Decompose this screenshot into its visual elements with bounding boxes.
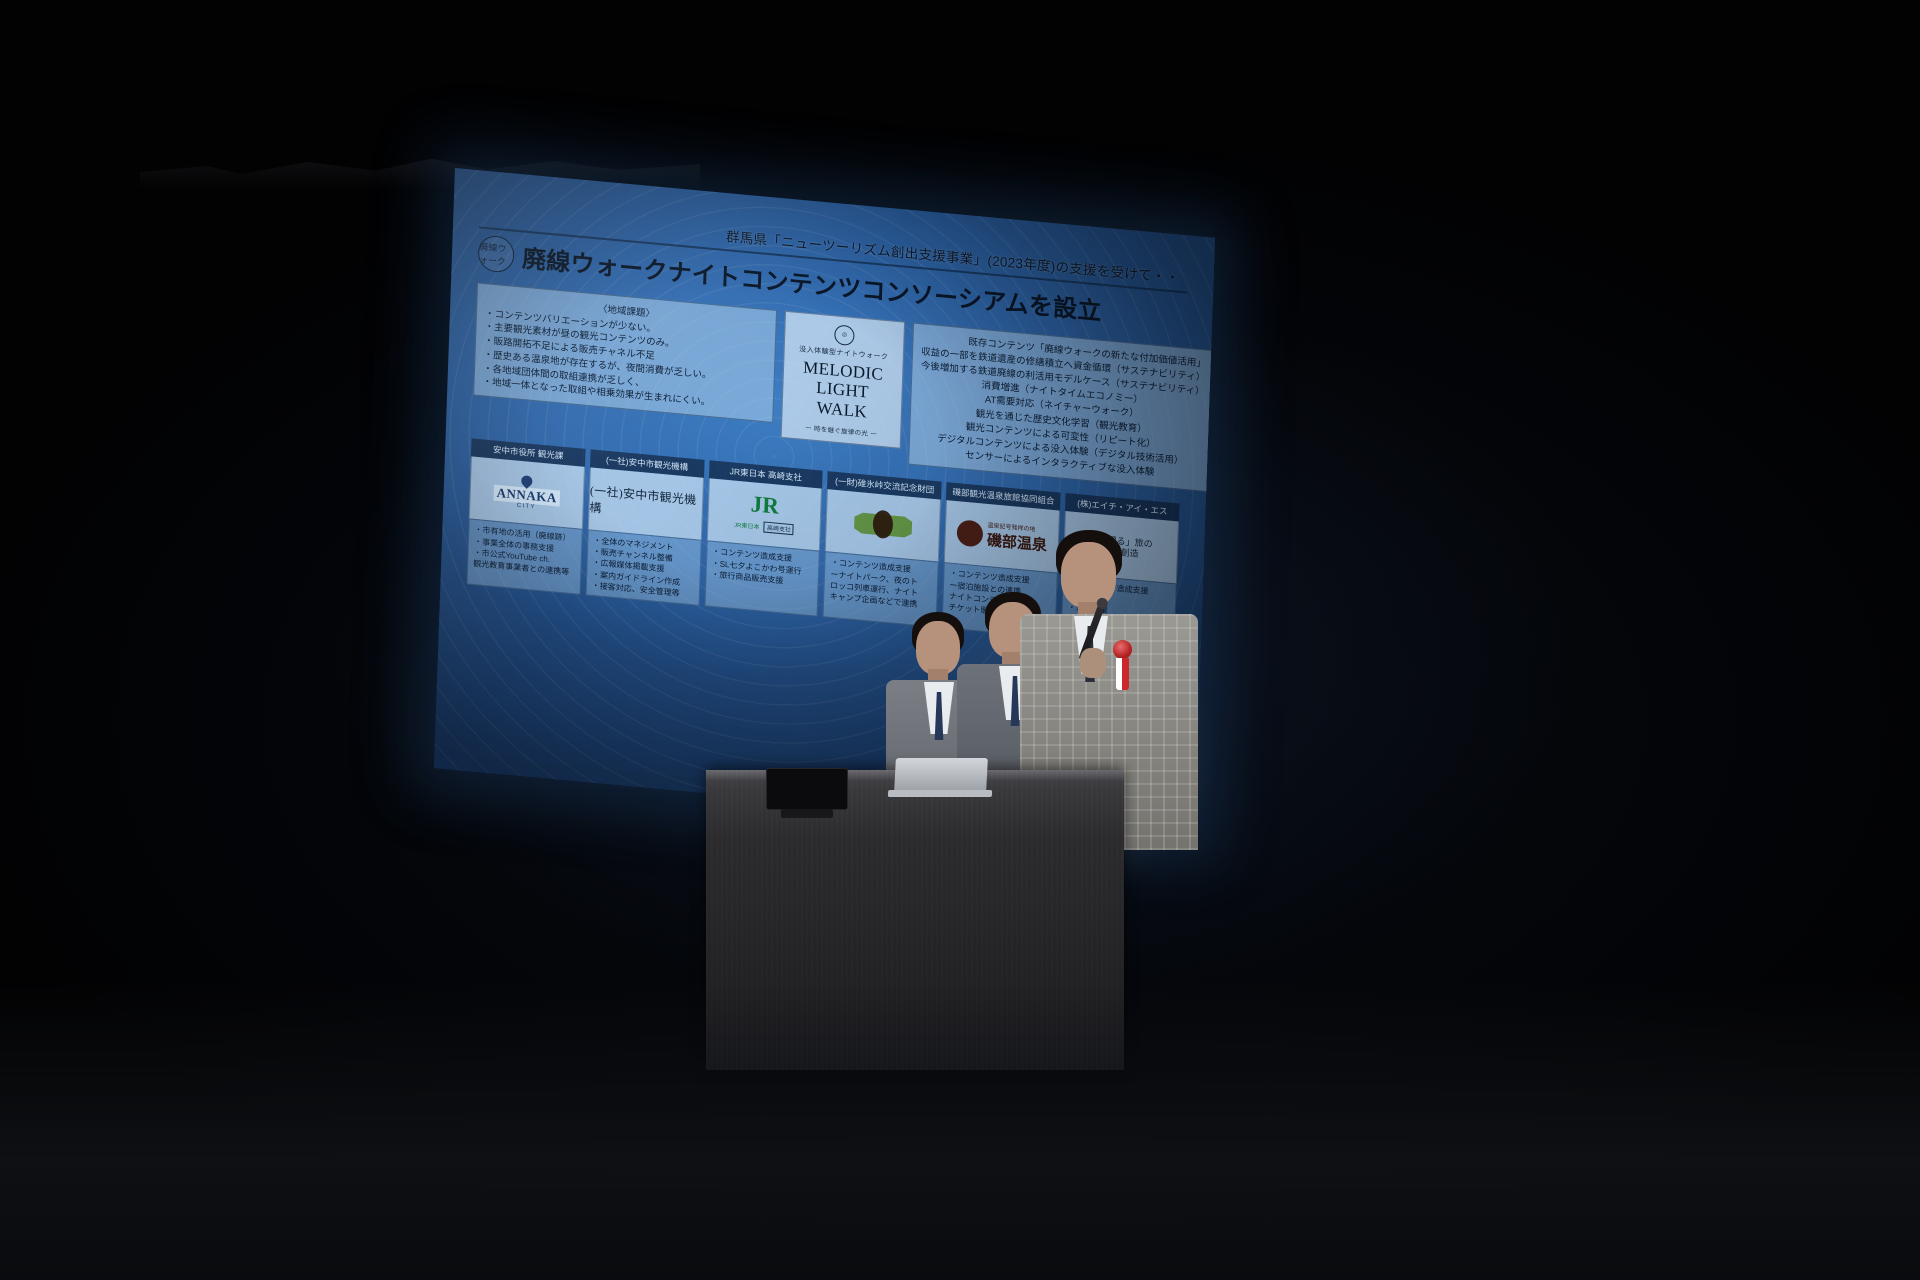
jr-east-logo-icon: JR JR東日本 高崎支社 — [734, 492, 795, 537]
mlw-seal-icon: ◎ — [834, 324, 855, 346]
partner-description: ・コンテンツ造成支援 ・SL七夕よこかわ号運行 ・旅行商品販売支援 — [704, 541, 820, 617]
partner-card-jr-east: JR東日本 高崎支社 JR JR東日本 高崎支社 ・コンテンツ造成支援 ・SL七… — [704, 461, 823, 617]
stage-floor — [0, 980, 1920, 1280]
jr-logo-branch: 高崎支社 — [764, 522, 794, 536]
annaka-tourism-logo-icon: (一社)安中市観光機構 — [589, 481, 702, 525]
partner-logo-slot: ANNAKA CITY — [469, 457, 585, 529]
partner-description: ・全体のマネジメント ・販売チャンネル整備 ・広報媒体掲載支援 ・案内ガイドライ… — [585, 529, 701, 606]
mlw-title: MELODIC LIGHT WALK — [786, 356, 898, 425]
issues-panel: 〈地域課題〉 コンテンツバリエーションが少ない。 主要観光素材が昼の観光コンテン… — [473, 282, 777, 423]
partner-card-annaka-city: 安中市役所 観光課 ANNAKA CITY ・市有地の活用（廃線跡） ・事業全体… — [466, 439, 585, 595]
rosette-badge — [1113, 640, 1132, 659]
partner-card-annaka-tourism: (一社)安中市観光機構 (一社)安中市観光機構 ・全体のマネジメント ・販売チャ… — [585, 449, 704, 606]
partner-logo-slot: JR JR東日本 高崎支社 — [706, 479, 822, 551]
rosette-ribbons — [1116, 658, 1129, 690]
jr-logo-text: JR — [734, 492, 795, 519]
onsen-mark-icon — [957, 520, 984, 548]
confidence-monitor — [766, 768, 848, 810]
slide-copyright: © 2025 Strada-ichi Destination Managemen… — [464, 756, 709, 786]
partner-description: ・市有地の活用（廃線跡） ・事業全体の事務支援 ・市公式YouTube ch. … — [466, 519, 582, 595]
head — [916, 621, 960, 675]
head — [1061, 542, 1116, 608]
laptop[interactable] — [894, 758, 988, 792]
value-list: 収益の一部を鉄道遺産の修繕積立へ資金循環（サステナビリティ） 今後増加する鉄道廃… — [917, 345, 1205, 485]
jr-logo-sub: JR東日本 — [734, 520, 760, 531]
hand — [1080, 648, 1106, 678]
melodic-light-walk-column: ◎ 没入体験型ナイトウォーク MELODIC LIGHT WALK ー 時を継ぐ… — [781, 310, 905, 448]
haisen-walk-seal-icon: 廃線ウォーク — [478, 234, 515, 273]
partner-logo-slot — [825, 489, 941, 561]
usui-pass-foundation-logo-icon — [854, 503, 913, 548]
stage-scene: 群馬県「ニューツーリズム創出支援事業」(2023年度)の支援を受けて・・ 廃線ウ… — [0, 0, 1920, 1280]
value-column: 既存コンテンツ「廃線ウォークの新たな付加価値活用」 収益の一部を鉄道遺産の修繕積… — [908, 322, 1215, 492]
value-panel: 既存コンテンツ「廃線ウォークの新たな付加価値活用」 収益の一部を鉄道遺産の修繕積… — [908, 322, 1215, 492]
issues-column: 〈地域課題〉 コンテンツバリエーションが少ない。 主要観光素材が昼の観光コンテン… — [473, 282, 777, 423]
partner-card-usui-foundation: (一財)碓氷峠交流記念財団 ・コンテンツ造成支援 ーナイトパーク、夜のト ロッコ… — [823, 471, 942, 627]
annaka-city-logo-icon: ANNAKA CITY — [493, 473, 560, 513]
partner-logo-slot: (一社)安中市観光機構 — [588, 467, 704, 539]
melodic-light-walk-card: ◎ 没入体験型ナイトウォーク MELODIC LIGHT WALK ー 時を継ぐ… — [781, 310, 905, 448]
